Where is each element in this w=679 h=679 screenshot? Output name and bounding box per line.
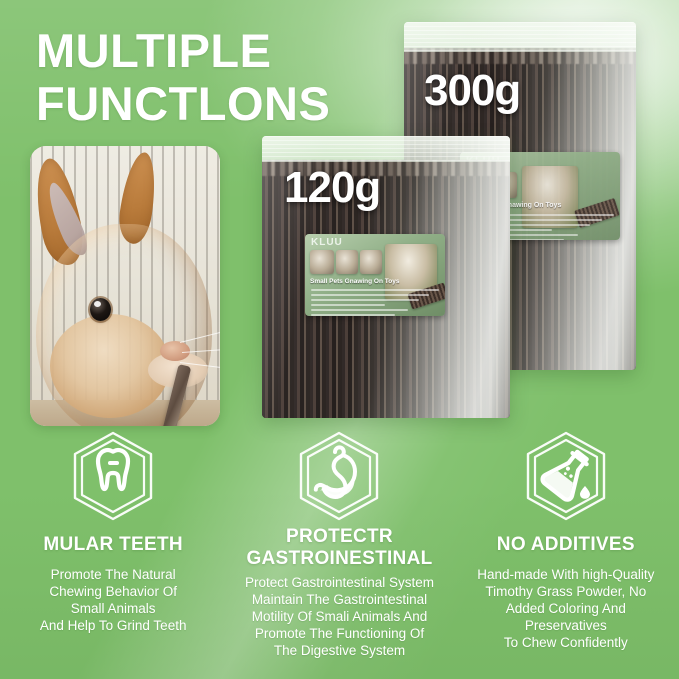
feature-title-gastrointestinal: PROTECTR GASTROINESTINAL: [246, 526, 432, 570]
feature-body-line: Small Animals: [40, 600, 187, 617]
label-title-front: Small Pets Gnawing On Toys: [310, 278, 399, 285]
weight-label-300g: 300g: [424, 66, 520, 116]
feature-body-line: To Chew Confidently: [477, 634, 654, 651]
feature-body-line: The Digestive System: [245, 642, 434, 659]
feature-title-line: NO ADDITIVES: [497, 534, 635, 555]
feature-body-line: Chewing Behavior Of: [40, 583, 187, 600]
rabbit-photo-card: [30, 146, 220, 426]
headline-line-2: FUNCTLONS: [36, 77, 330, 130]
bag-zip-seal: [262, 136, 510, 162]
feature-title-molar-teeth: MULAR TEETH: [43, 534, 182, 556]
feature-body-line: Protect Gastrointestinal System: [245, 574, 434, 591]
weight-label-120g: 120g: [284, 163, 380, 213]
feature-body-no-additives: Hand-made With high-Quality Timothy Gras…: [477, 566, 654, 651]
pet-thumbnail: [336, 250, 358, 274]
feature-body-line: And Help To Grind Teeth: [40, 617, 187, 634]
tooth-icon: [65, 428, 161, 524]
feature-body-line: Added Coloring And: [477, 600, 654, 617]
feature-no-additives: NO ADDITIVES Hand-made With high-Quality…: [453, 428, 679, 679]
feature-molar-teeth: MULAR TEETH Promote The Natural Chewing …: [0, 428, 226, 679]
bag-zip-seal: [404, 22, 636, 52]
headline-line-1: MULTIPLE: [36, 24, 330, 77]
feature-title-line: GASTROINESTINAL: [246, 548, 432, 570]
feature-body-line: Motility Of Smali Animals And: [245, 608, 434, 625]
feature-title-line: PROTECTR: [286, 526, 393, 547]
stomach-icon: [291, 428, 387, 524]
poster-headline: MULTIPLE FUNCTLONS: [36, 24, 330, 130]
feature-body-line: Preservatives: [477, 617, 654, 634]
product-infographic-poster: MULTIPLE FUNCTLONS K: [0, 0, 679, 679]
rabbit-eye: [90, 298, 111, 321]
label-body-lines-front: [311, 289, 439, 316]
feature-title-no-additives: NO ADDITIVES: [497, 534, 635, 556]
brand-logo-front: KLUU: [311, 237, 343, 248]
pet-thumbnail: [310, 250, 334, 274]
pet-thumbnail: [360, 250, 382, 274]
feature-body-line: Hand-made With high-Quality: [477, 566, 654, 583]
feature-gastrointestinal: PROTECTR GASTROINESTINAL Protect Gastroi…: [226, 428, 452, 679]
flask-icon: [518, 428, 614, 524]
feature-body-line: Promote The Functioning Of: [245, 625, 434, 642]
feature-body-line: Maintain The Gastrointestinal: [245, 591, 434, 608]
feature-body-gastrointestinal: Protect Gastrointestinal System Maintain…: [245, 574, 434, 659]
feature-title-line: MULAR TEETH: [43, 534, 182, 555]
feature-row: MULAR TEETH Promote The Natural Chewing …: [0, 428, 679, 679]
feature-body-molar-teeth: Promote The Natural Chewing Behavior Of …: [40, 566, 187, 634]
feature-body-line: Promote The Natural: [40, 566, 187, 583]
product-label-front: KLUU Small Pets Gnawing On Toys: [305, 234, 445, 316]
rabbit-photo: [30, 146, 220, 426]
feature-body-line: Timothy Grass Powder, No: [477, 583, 654, 600]
